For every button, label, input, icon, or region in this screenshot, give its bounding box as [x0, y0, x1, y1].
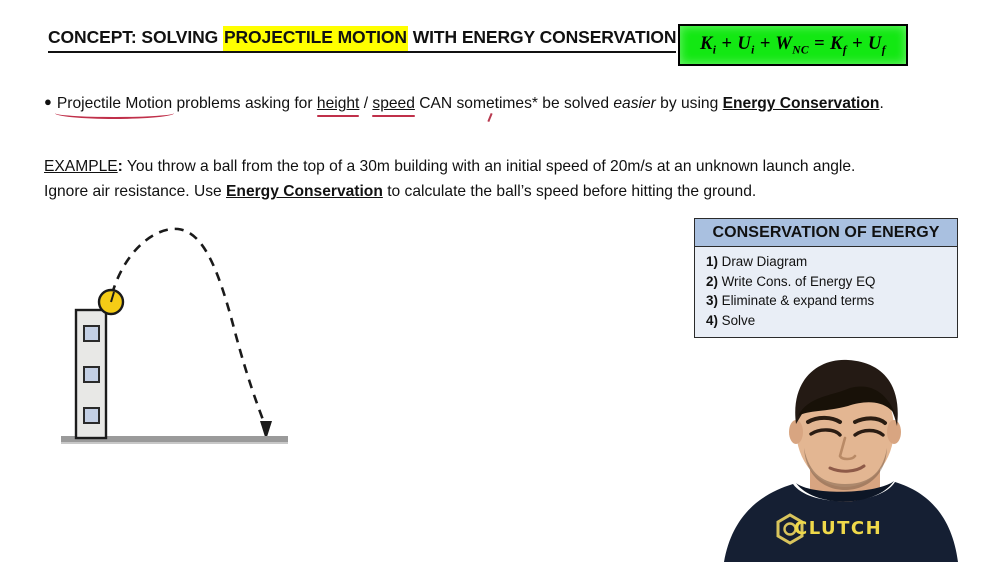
example-line-1: EXAMPLE: You throw a ball from the top o… — [44, 154, 974, 179]
term-u-initial: U — [737, 34, 751, 54]
energy-conservation-equation-box: Ki + Ui + WNC = Kf + Uf — [678, 24, 908, 66]
plus-2: + — [760, 34, 771, 54]
example-label: EXAMPLE — [44, 158, 118, 175]
example-line-1-text: You throw a ball from the top of a 30m b… — [123, 158, 856, 175]
step-label: Eliminate & expand terms — [718, 293, 874, 308]
steps-list: 1) Draw Diagram 2) Write Cons. of Energy… — [695, 247, 957, 330]
step-label: Draw Diagram — [718, 254, 807, 269]
term-work-nc: W — [775, 34, 792, 54]
term-k-initial: K — [700, 34, 713, 54]
bullet-text-3: CAN sometimes* be solved — [415, 95, 613, 112]
bullet-text-5: . — [879, 95, 883, 112]
list-item: 2) Write Cons. of Energy EQ — [706, 272, 957, 292]
example-line-2: Ignore air resistance. Use Energy Conser… — [44, 179, 974, 204]
example-term-energy-conservation: Energy Conservation — [226, 183, 383, 200]
bullet-term-easier: easier — [613, 95, 655, 112]
ground-line-shadow — [61, 442, 288, 444]
step-number: 1) — [706, 254, 718, 269]
projectile-motion-diagram — [55, 222, 315, 457]
sub-work-nc: NC — [792, 44, 809, 56]
ear-right — [887, 420, 901, 444]
title-part-2: WITH ENERGY CONSERVATION — [408, 27, 676, 47]
sub-u-final: f — [882, 44, 886, 56]
term-k-final: K — [830, 34, 843, 54]
clutch-shirt-text: CLUTCH — [794, 518, 882, 539]
sub-u-initial: i — [751, 44, 755, 56]
bullet-marker: ● — [44, 94, 52, 109]
bullet-statement: ●Projectile Motion problems asking for h… — [44, 92, 974, 114]
plus-1: + — [721, 34, 732, 54]
step-number: 3) — [706, 293, 718, 308]
building-window — [84, 367, 99, 382]
example-line-2-text-b: to calculate the ball’s speed before hit… — [383, 183, 756, 200]
bullet-text-2: / — [359, 95, 372, 112]
instructor-webcam-overlay: CLUTCH — [690, 356, 1000, 562]
list-item: 1) Draw Diagram — [706, 252, 957, 272]
bullet-term-projectile-motion: Projectile Motion — [57, 95, 172, 112]
conservation-of-energy-steps-box: CONSERVATION OF ENERGY 1) Draw Diagram 2… — [694, 218, 958, 338]
title-part-1: CONCEPT: SOLVING — [48, 27, 223, 47]
equals-sign: = — [814, 34, 825, 54]
term-u-final: U — [868, 34, 882, 54]
equation-text: Ki + Ui + WNC = Kf + Uf — [700, 34, 886, 57]
step-number: 4) — [706, 313, 718, 328]
building-window — [84, 326, 99, 341]
building-window — [84, 408, 99, 423]
bullet-text-1: problems asking for — [172, 95, 317, 112]
bullet-term-energy-conservation: Energy Conservation — [723, 95, 880, 112]
example-line-2-text-a: Ignore air resistance. Use — [44, 183, 226, 200]
step-number: 2) — [706, 274, 718, 289]
step-label: Write Cons. of Energy EQ — [718, 274, 876, 289]
list-item: 3) Eliminate & expand terms — [706, 291, 957, 311]
bullet-text-4: by using — [656, 95, 723, 112]
example-paragraph: EXAMPLE: You throw a ball from the top o… — [44, 154, 974, 204]
step-label: Solve — [718, 313, 755, 328]
plus-3: + — [852, 34, 863, 54]
page-title: CONCEPT: SOLVING PROJECTILE MOTION WITH … — [48, 26, 676, 53]
title-highlighted-text: PROJECTILE MOTION — [223, 27, 408, 47]
bullet-term-height: height — [317, 95, 360, 112]
list-item: 4) Solve — [706, 311, 957, 331]
bullet-term-speed: speed — [372, 95, 415, 112]
sub-k-initial: i — [713, 44, 717, 56]
trajectory-path — [112, 229, 265, 425]
sub-k-final: f — [843, 44, 847, 56]
red-tick-annotation — [487, 113, 492, 122]
steps-box-header: CONSERVATION OF ENERGY — [695, 219, 957, 247]
